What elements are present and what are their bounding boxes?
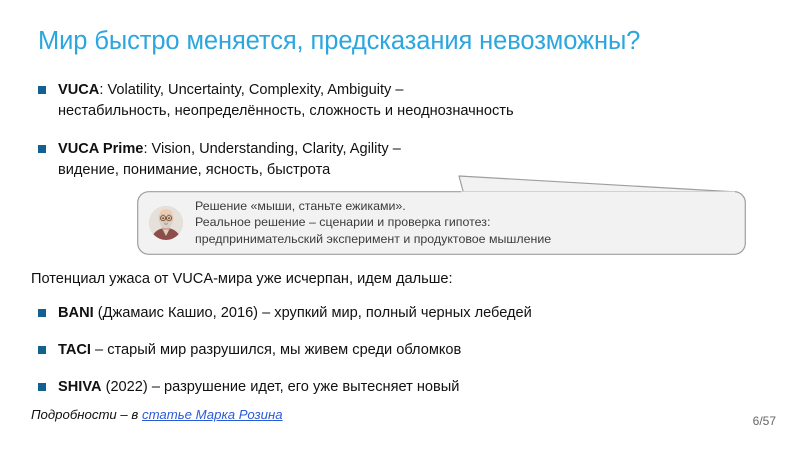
page-number: 6/57 — [753, 414, 776, 428]
bullet-lead: TACI — [58, 342, 91, 358]
callout-content: Решение «мыши, станьте ежиками». Реально… — [137, 191, 746, 254]
square-bullet-icon — [38, 86, 46, 94]
square-bullet-icon — [38, 383, 46, 391]
bullet-item-vuca: VUCA: Volatility, Uncertainty, Complexit… — [38, 80, 514, 122]
bullet-lead: VUCA Prime — [58, 141, 143, 157]
square-bullet-icon — [38, 346, 46, 354]
callout-line-3: предпринимательский эксперимент и продук… — [195, 232, 551, 246]
bullet-item-bani-text: BANI (Джамаис Кашио, 2016) – хрупкий мир… — [58, 303, 532, 324]
callout-line-2: Реальное решение – сценарии и проверка г… — [195, 215, 490, 229]
square-bullet-icon — [38, 309, 46, 317]
page-title: Мир быстро меняется, предсказания невозм… — [38, 27, 640, 55]
bullet-lead: VUCA — [58, 82, 99, 98]
slide-canvas: Мир быстро меняется, предсказания невозм… — [0, 0, 800, 450]
bullet-line2: нестабильность, неопределённость, сложно… — [58, 103, 514, 119]
bullet-rest: – старый мир разрушился, мы живем среди … — [91, 342, 461, 358]
bullet-item-vuca-text: VUCA: Volatility, Uncertainty, Complexit… — [58, 80, 514, 122]
footer-note: Подробности – в статье Марка Розина — [31, 407, 283, 422]
bullet-item-shiva: SHIVA (2022) – разрушение идет, его уже … — [38, 377, 459, 398]
bullet-lead: SHIVA — [58, 379, 102, 395]
bullet-rest: (2022) – разрушение идет, его уже вытесн… — [102, 379, 460, 395]
bullet-item-taci: TACI – старый мир разрушился, мы живем с… — [38, 340, 461, 361]
bullet-rest: (Джамаис Кашио, 2016) – хрупкий мир, пол… — [94, 305, 532, 321]
bullet-item-bani: BANI (Джамаис Кашио, 2016) – хрупкий мир… — [38, 303, 532, 324]
speech-bubble-callout: Решение «мыши, станьте ежиками». Реально… — [137, 191, 746, 254]
square-bullet-icon — [38, 145, 46, 153]
intro-paragraph: Потенциал ужаса от VUCA-мира уже исчерпа… — [31, 269, 453, 290]
bullet-item-taci-text: TACI – старый мир разрушился, мы живем с… — [58, 340, 461, 361]
footer-note-prefix: Подробности – в — [31, 407, 142, 422]
callout-line-1: Решение «мыши, станьте ежиками». — [195, 199, 406, 213]
avatar — [149, 206, 183, 240]
bullet-lead: BANI — [58, 305, 94, 321]
bullet-rest: : Vision, Understanding, Clarity, Agilit… — [143, 141, 400, 157]
bullet-item-shiva-text: SHIVA (2022) – разрушение идет, его уже … — [58, 377, 459, 398]
bullet-rest: : Volatility, Uncertainty, Complexity, A… — [99, 82, 403, 98]
portrait-photo-icon — [149, 206, 183, 240]
callout-text: Решение «мыши, станьте ежиками». Реально… — [195, 198, 551, 248]
source-article-link[interactable]: статье Марка Розина — [142, 407, 283, 422]
